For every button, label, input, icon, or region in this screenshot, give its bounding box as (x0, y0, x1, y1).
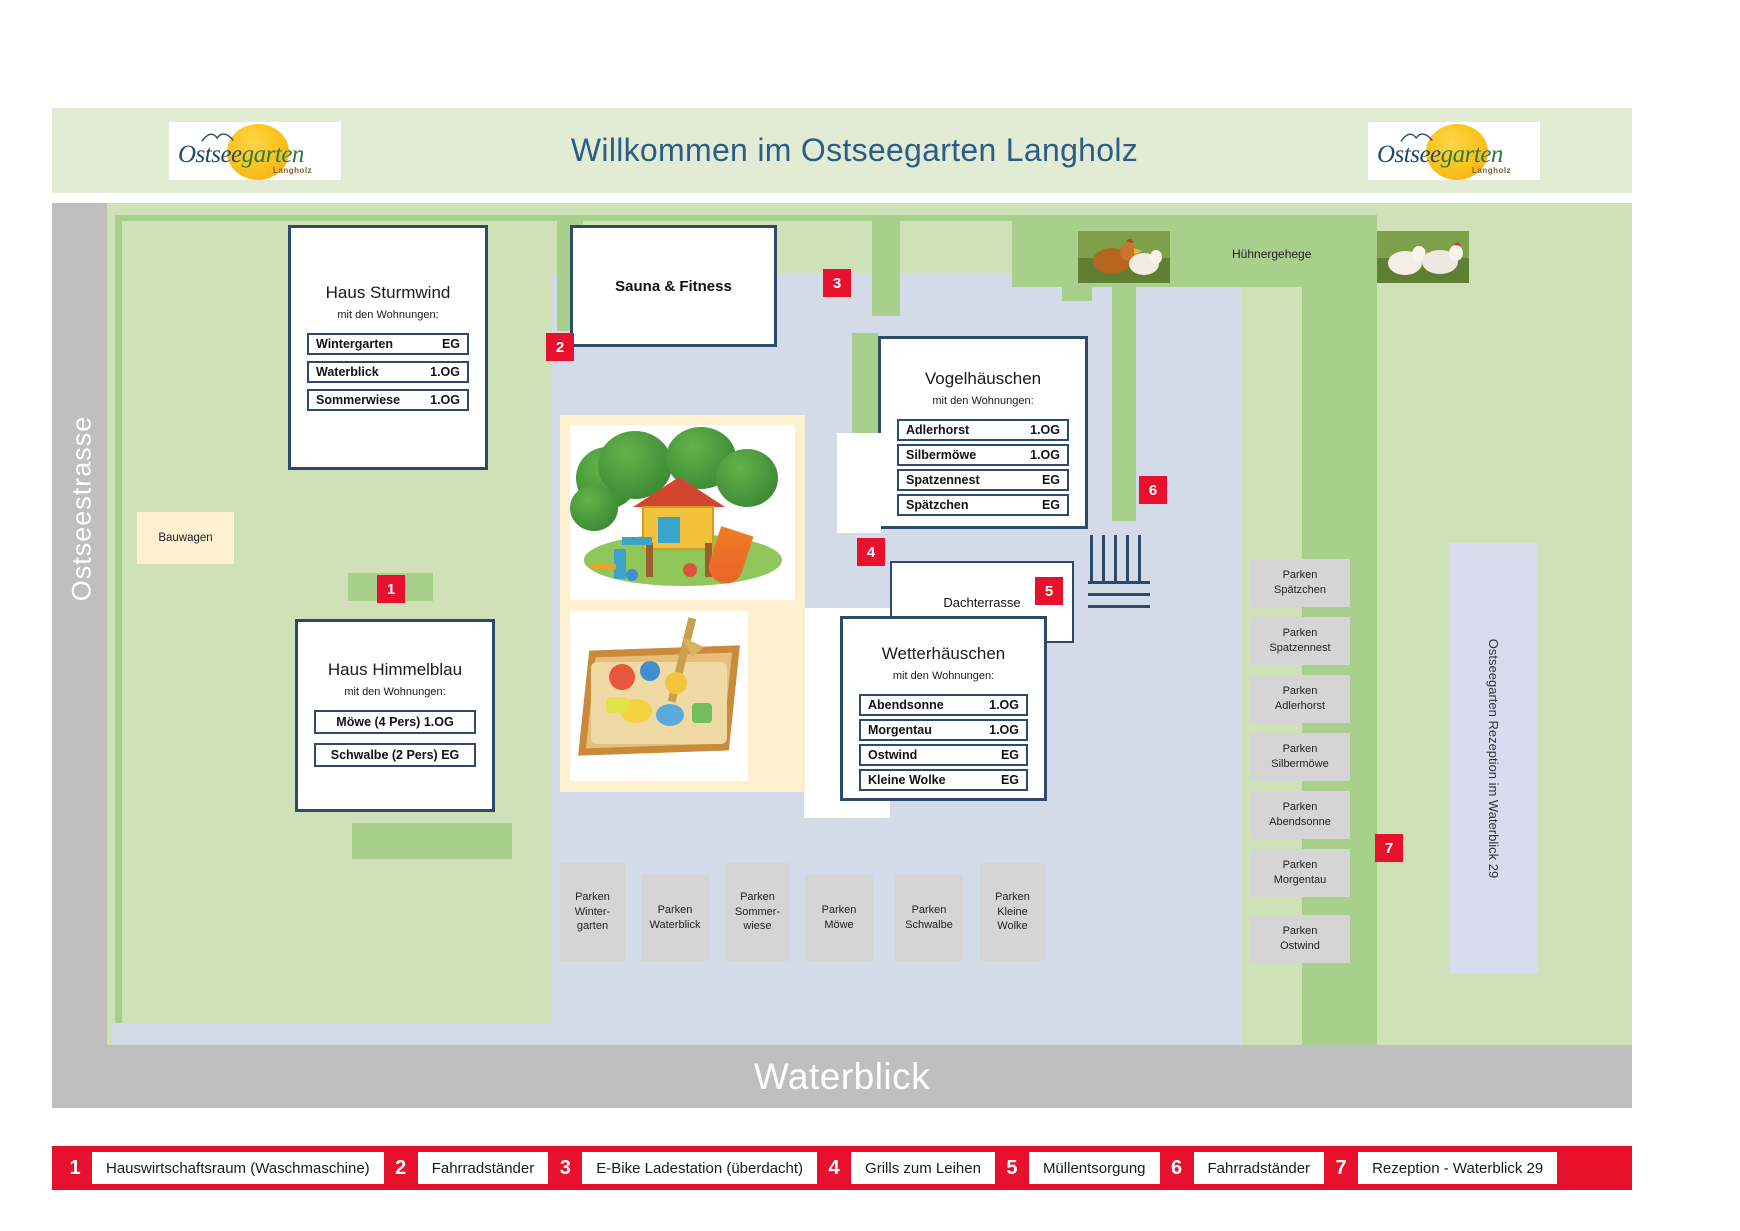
flat-name: Ostwind (868, 748, 917, 762)
parkbox-abendsonne[interactable]: ParkenAbendsonne (1250, 791, 1350, 839)
flat-sommerwiese[interactable]: Sommerwiese 1.OG (307, 389, 469, 411)
flat-ostwind[interactable]: Ostwind EG (859, 744, 1028, 766)
flat-floor: EG (1042, 498, 1060, 512)
marker-1[interactable]: 1 (377, 575, 405, 603)
vogelhaeuschen-box[interactable]: Vogelhäuschen mit den Wohnungen: Adlerho… (878, 336, 1088, 529)
flat-name: Spatzennest (906, 473, 980, 487)
sandbox-illustration (570, 611, 748, 781)
parkbox-label: ParkenWinter-garten (575, 890, 610, 934)
marker-3[interactable]: 3 (823, 269, 851, 297)
parkbox-spaetzchen[interactable]: ParkenSpätzchen (1250, 559, 1350, 607)
haus-sturmwind-flats: Wintergarten EG Waterblick 1.OG Sommerwi… (291, 333, 485, 417)
sauna-fitness-box[interactable]: Sauna & Fitness (570, 225, 777, 347)
legend-num-5: 5 (995, 1157, 1029, 1180)
flat-floor: EG (442, 337, 460, 351)
haus-himmelblau-box[interactable]: Haus Himmelblau mit den Wohnungen: Möwe … (295, 619, 495, 812)
flat-floor: 1.OG (1030, 423, 1060, 437)
parkbox-waterblick[interactable]: ParkenWaterblick (641, 875, 709, 961)
lawn-hen-band (1012, 221, 1372, 287)
flat-floor: 1.OG (430, 393, 460, 407)
parkbox-label: ParkenSilbermöwe (1271, 742, 1328, 771)
fence-rail-1 (1088, 581, 1150, 584)
legend-num-6: 6 (1160, 1157, 1194, 1180)
flat-floor: EG (1001, 748, 1019, 762)
flat-waterblick[interactable]: Waterblick 1.OG (307, 361, 469, 383)
reception-label: Ostseegarten Rezeption im Waterblick 29 (1487, 638, 1502, 877)
parkbox-label: ParkenAbendsonne (1269, 800, 1331, 829)
flat-name: Kleine Wolke (868, 773, 946, 787)
site-map-canvas: Ostseestrasse Waterblick Hühnergehege (52, 203, 1632, 1108)
flat-floor: 1.OG (430, 365, 460, 379)
flat-name: Silbermöwe (906, 448, 976, 462)
parkbox-silbermoewe[interactable]: ParkenSilbermöwe (1250, 733, 1350, 781)
legend-num-4: 4 (817, 1157, 851, 1180)
huehnergehege-label: Hühnergehege (1232, 247, 1311, 261)
road-waterblick-label: Waterblick (754, 1056, 930, 1098)
fence-post-1 (1090, 535, 1093, 581)
page-title: Willkommen im Ostseegarten Langholz (341, 132, 1368, 169)
wetterhaeuschen-subtitle: mit den Wohnungen: (893, 670, 994, 682)
flat-adlerhorst[interactable]: Adlerhorst 1.OG (897, 419, 1069, 441)
lawn-strip-b (872, 221, 900, 316)
haus-himmelblau-title: Haus Himmelblau (328, 660, 462, 680)
flat-floor: 1.OG (989, 723, 1019, 737)
wetterhaeuschen-title: Wetterhäuschen (882, 644, 1005, 664)
parkbox-spatzennest[interactable]: ParkenSpatzennest (1250, 617, 1350, 665)
flat-abendsonne[interactable]: Abendsonne 1.OG (859, 694, 1028, 716)
legend-num-2: 2 (384, 1157, 418, 1180)
vogelhaeuschen-flats: Adlerhorst 1.OG Silbermöwe 1.OG Spatzenn… (881, 419, 1085, 522)
haus-sturmwind-title: Haus Sturmwind (326, 283, 451, 303)
flat-name: Schwalbe (2 Pers) EG (331, 748, 460, 762)
flat-schwalbe[interactable]: Schwalbe (2 Pers) EG (314, 743, 476, 767)
parkbox-schwalbe[interactable]: ParkenSchwalbe (895, 875, 963, 961)
legend-label-7[interactable]: Rezeption - Waterblick 29 (1358, 1152, 1557, 1184)
flat-name: Morgentau (868, 723, 932, 737)
flat-morgentau[interactable]: Morgentau 1.OG (859, 719, 1028, 741)
parkbox-label: ParkenSpätzchen (1274, 568, 1326, 597)
road-ostseestrasse: Ostseestrasse (52, 203, 107, 1108)
flat-name: Möwe (4 Pers) 1.OG (336, 715, 453, 729)
legend-bar: 1 Hauswirtschaftsraum (Waschmaschine) 2 … (52, 1146, 1632, 1190)
wetterhaeuschen-box[interactable]: Wetterhäuschen mit den Wohnungen: Abends… (840, 616, 1047, 801)
marker-7[interactable]: 7 (1375, 834, 1403, 862)
legend-num-3: 3 (548, 1157, 582, 1180)
logo-subtitle: Langholz (1472, 166, 1511, 175)
reception-strip[interactable]: Ostseegarten Rezeption im Waterblick 29 (1450, 543, 1538, 973)
fence-post-2 (1102, 535, 1105, 581)
flat-kleine-wolke[interactable]: Kleine Wolke EG (859, 769, 1028, 791)
flat-name: Wintergarten (316, 337, 393, 351)
flat-spatzennest[interactable]: Spatzennest EG (897, 469, 1069, 491)
haus-himmelblau-subtitle: mit den Wohnungen: (344, 686, 445, 698)
logo-wordmark: Ostseegarten (178, 141, 304, 169)
legend-label-6[interactable]: Fahrradständer (1194, 1152, 1325, 1184)
haus-himmelblau-flats: Möwe (4 Pers) 1.OG Schwalbe (2 Pers) EG (298, 710, 492, 773)
flat-name: Abendsonne (868, 698, 944, 712)
flat-spaetzchen[interactable]: Spätzchen EG (897, 494, 1069, 516)
hen-photo-left (1078, 231, 1170, 283)
logo-left: Ostseegarten Langholz (169, 122, 341, 180)
fence-post-3 (1114, 535, 1117, 581)
parkbox-kleine-wolke[interactable]: ParkenKleineWolke (980, 863, 1045, 961)
marker-5[interactable]: 5 (1035, 577, 1063, 605)
flat-floor: EG (1042, 473, 1060, 487)
flat-moewe[interactable]: Möwe (4 Pers) 1.OG (314, 710, 476, 734)
wetterhaeuschen-flats: Abendsonne 1.OG Morgentau 1.OG Ostwind E… (843, 694, 1044, 797)
flat-floor: 1.OG (1030, 448, 1060, 462)
fence-rail-2 (1088, 593, 1150, 596)
flat-name: Sommerwiese (316, 393, 400, 407)
flat-name: Spätzchen (906, 498, 969, 512)
road-waterblick: Waterblick (52, 1045, 1632, 1108)
parkbox-label: ParkenSpatzennest (1269, 626, 1330, 655)
hen-photo-right (1377, 231, 1469, 283)
flat-floor: 1.OG (989, 698, 1019, 712)
marker-6[interactable]: 6 (1139, 476, 1167, 504)
parkbox-label: ParkenSommer-wiese (735, 890, 780, 934)
parkbox-ostwind[interactable]: ParkenOstwind (1250, 915, 1350, 963)
building-annex-north (837, 433, 881, 533)
haus-sturmwind-box[interactable]: Haus Sturmwind mit den Wohnungen: Winter… (288, 225, 488, 470)
parkbox-label: ParkenOstwind (1280, 924, 1320, 953)
logo-subtitle: Langholz (273, 166, 312, 175)
legend-num-1: 1 (58, 1157, 92, 1180)
parkbox-label: ParkenMorgentau (1274, 858, 1327, 887)
fence-post-5 (1138, 535, 1141, 581)
page-header: Ostseegarten Langholz Willkommen im Osts… (52, 108, 1632, 193)
vogelhaeuschen-subtitle: mit den Wohnungen: (932, 395, 1033, 407)
parkbox-label: ParkenAdlerhorst (1275, 684, 1325, 713)
legend-label-3[interactable]: E-Bike Ladestation (überdacht) (582, 1152, 817, 1184)
legend-label-5[interactable]: Müllentsorgung (1029, 1152, 1160, 1184)
parkbox-label: ParkenSchwalbe (905, 903, 953, 932)
parkbox-morgentau[interactable]: ParkenMorgentau (1250, 849, 1350, 897)
legend-label-4[interactable]: Grills zum Leihen (851, 1152, 995, 1184)
parkbox-label: ParkenWaterblick (650, 903, 701, 932)
marker-2[interactable]: 2 (546, 333, 574, 361)
road-corner (52, 1009, 107, 1045)
site-map-page: Ostseegarten Langholz Willkommen im Osts… (0, 0, 1740, 1231)
marker-4[interactable]: 4 (857, 538, 885, 566)
legend-num-7: 7 (1324, 1157, 1358, 1180)
bauwagen-box[interactable]: Bauwagen (137, 512, 234, 564)
road-ostseestrasse-label: Ostseestrasse (67, 369, 98, 649)
fence-post-4 (1126, 535, 1129, 581)
playground-illustration (570, 425, 795, 600)
lawn-strip-f (352, 823, 512, 859)
fence-rail-3 (1088, 605, 1150, 608)
paving-east-path (1142, 221, 1242, 1081)
flat-name: Waterblick (316, 365, 379, 379)
logo-wordmark: Ostseegarten (1377, 141, 1503, 169)
haus-sturmwind-subtitle: mit den Wohnungen: (337, 309, 438, 321)
flat-name: Adlerhorst (906, 423, 969, 437)
parkbox-moewe[interactable]: ParkenMöwe (805, 875, 873, 961)
parkbox-sommerwiese[interactable]: ParkenSommer-wiese (725, 863, 790, 961)
parkbox-label: ParkenKleineWolke (995, 890, 1030, 934)
vogelhaeuschen-title: Vogelhäuschen (925, 369, 1041, 389)
parkbox-wintergarten[interactable]: ParkenWinter-garten (560, 863, 625, 961)
parkbox-label: ParkenMöwe (822, 903, 857, 932)
flat-silbermoewe[interactable]: Silbermöwe 1.OG (897, 444, 1069, 466)
logo-right: Ostseegarten Langholz (1368, 122, 1540, 180)
legend-label-1[interactable]: Hauswirtschaftsraum (Waschmaschine) (92, 1152, 384, 1184)
parkbox-adlerhorst[interactable]: ParkenAdlerhorst (1250, 675, 1350, 723)
flat-wintergarten[interactable]: Wintergarten EG (307, 333, 469, 355)
flat-floor: EG (1001, 773, 1019, 787)
legend-label-2[interactable]: Fahrradständer (418, 1152, 549, 1184)
